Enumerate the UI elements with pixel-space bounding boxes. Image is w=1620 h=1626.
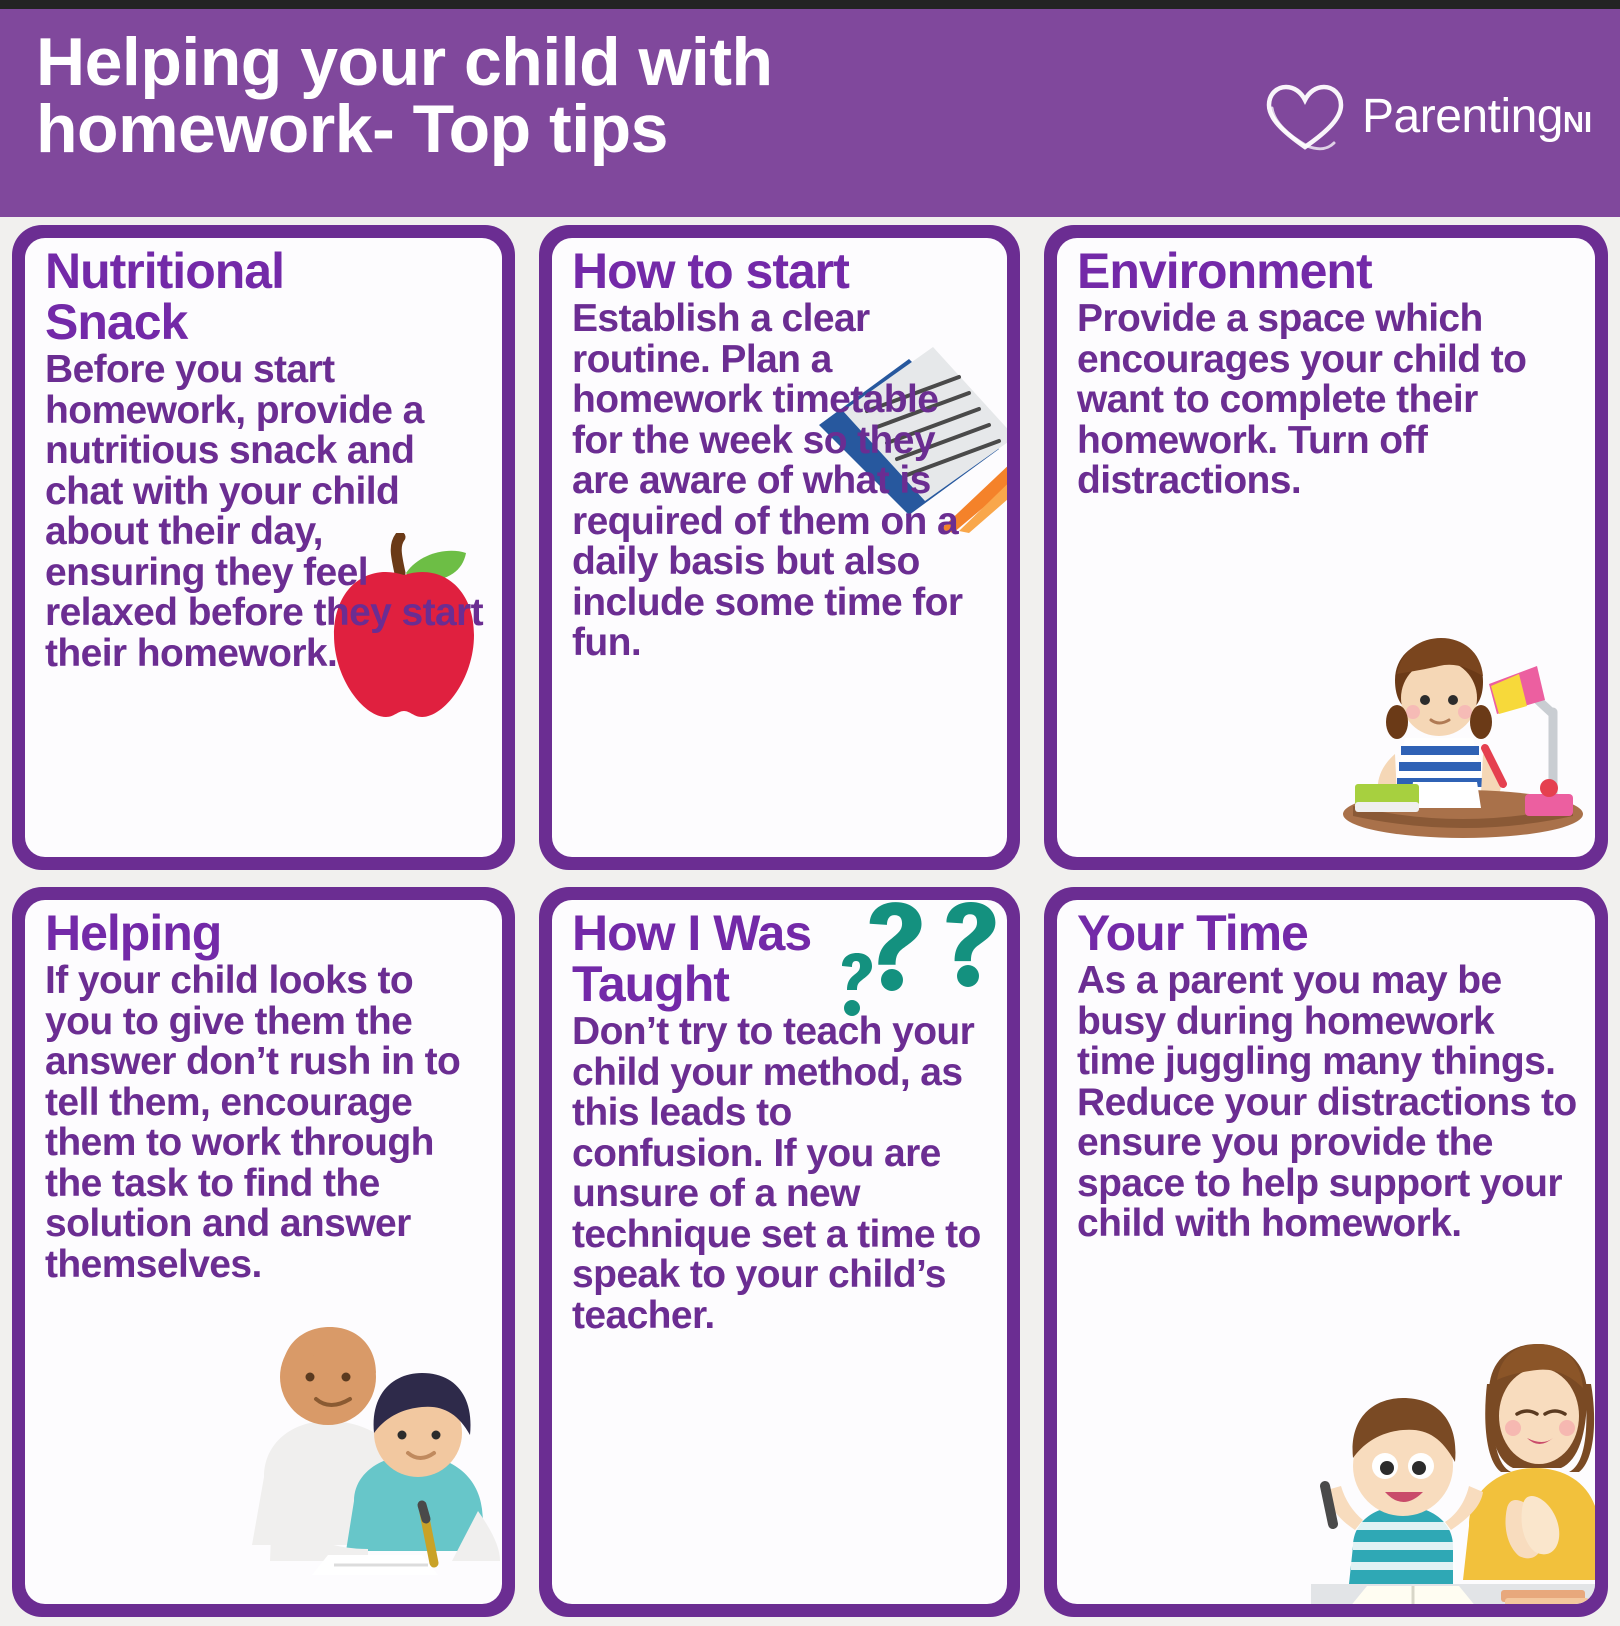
- tip-card-title: Your Time: [1077, 908, 1581, 959]
- infographic-page: Helping your child with homework- Top ti…: [0, 0, 1620, 1626]
- brand-name: Parenting: [1362, 93, 1563, 141]
- tip-card-how-i-was-taught: How I Was Taught Don’t try to teach your…: [539, 887, 1020, 1617]
- tip-card-helping: Helping If your child looks to you to gi…: [12, 887, 515, 1617]
- tip-card-body: Don’t try to teach your child your metho…: [572, 1012, 993, 1336]
- tip-card-body: Establish a clear routine. Plan a homewo…: [572, 299, 993, 664]
- tip-card-title: Environment: [1077, 246, 1581, 297]
- brand-wordmark: ParentingNI: [1362, 93, 1592, 141]
- tip-card-content: How I Was Taught Don’t try to teach your…: [552, 900, 1007, 1604]
- tip-card-how-to-start: How to start Establish a clear routine. …: [539, 225, 1020, 870]
- tip-card-body: Provide a space which encourages your ch…: [1077, 299, 1581, 502]
- tips-grid: Nutritional Snack Before you start homew…: [0, 217, 1620, 1626]
- tip-card-title: Nutritional Snack: [45, 246, 488, 348]
- tip-card-body: As a parent you may be busy during homew…: [1077, 961, 1581, 1245]
- tip-card-nutritional-snack: Nutritional Snack Before you start homew…: [12, 225, 515, 870]
- tip-card-content: How to start Establish a clear routine. …: [552, 238, 1007, 857]
- tip-card-content: Nutritional Snack Before you start homew…: [25, 238, 502, 857]
- tip-card-body: If your child looks to you to give them …: [45, 961, 488, 1285]
- header-band: Helping your child with homework- Top ti…: [0, 9, 1620, 217]
- tip-card-content: Your Time As a parent you may be busy du…: [1057, 900, 1595, 1604]
- heart-outline-icon: [1262, 81, 1348, 153]
- mother-and-child-icon: [1311, 1340, 1595, 1604]
- tip-card-your-time: Your Time As a parent you may be busy du…: [1044, 887, 1608, 1617]
- tip-card-title: How I Was Taught: [572, 908, 993, 1010]
- girl-at-desk-icon: [1339, 626, 1589, 846]
- tip-card-content: Environment Provide a space which encour…: [1057, 238, 1595, 857]
- tip-card-environment: Environment Provide a space which encour…: [1044, 225, 1608, 870]
- tip-card-content: Helping If your child looks to you to gi…: [25, 900, 502, 1604]
- page-title: Helping your child with homework- Top ti…: [36, 29, 986, 164]
- tip-card-body: Before you start homework, provide a nut…: [45, 350, 488, 674]
- tip-card-title: How to start: [572, 246, 993, 297]
- father-and-child-icon: [242, 1315, 502, 1575]
- brand-suffix: NI: [1563, 109, 1592, 138]
- top-status-strip: [0, 0, 1620, 9]
- brand-logo: ParentingNI: [1262, 81, 1592, 153]
- tip-card-title: Helping: [45, 908, 488, 959]
